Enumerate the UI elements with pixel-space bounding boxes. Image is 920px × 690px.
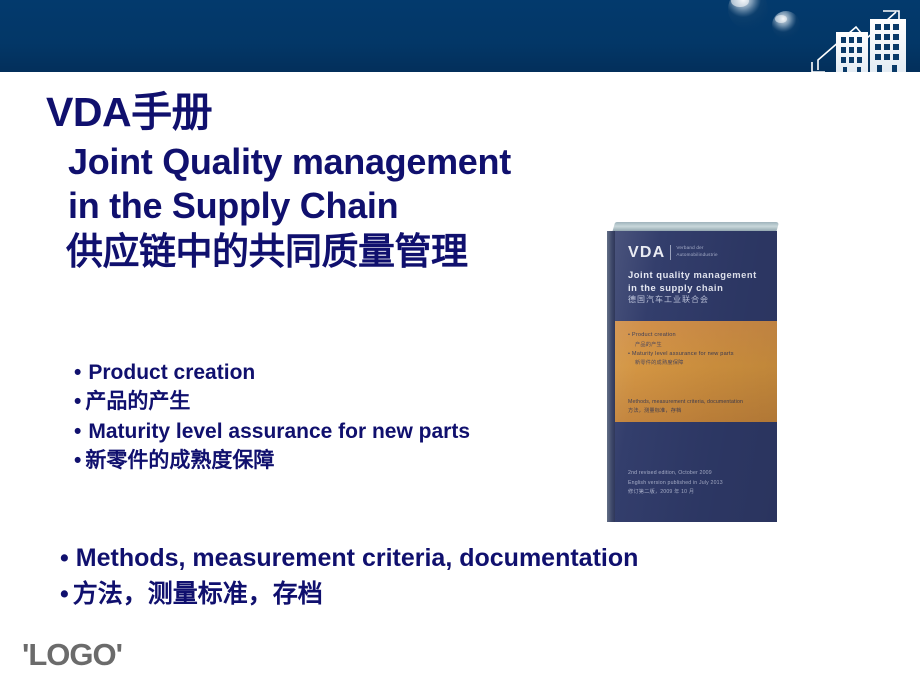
bullet-dot-icon: • bbox=[60, 541, 69, 577]
bubble-small-icon bbox=[772, 11, 800, 39]
slide: VDA手册 Joint Quality management in the Su… bbox=[0, 0, 920, 690]
page-title-en-line1: Joint Quality management bbox=[68, 144, 640, 180]
bullet-dot-icon: • bbox=[74, 446, 81, 475]
list-item-label: 方法，测量标准，存档 bbox=[73, 577, 323, 613]
book-vda-wordmark: VDA bbox=[628, 245, 665, 261]
header-decoration-graphic bbox=[690, 0, 920, 72]
bullet-list-upper: • Product creation • 产品的产生 • Maturity le… bbox=[74, 358, 614, 476]
list-item-label: 新零件的成熟度保障 bbox=[85, 446, 274, 475]
bullet-dot-icon: • bbox=[60, 577, 69, 613]
list-item: • 新零件的成熟度保障 bbox=[74, 446, 614, 475]
list-item-label: 产品的产生 bbox=[85, 387, 190, 416]
page-title-en-line2: in the Supply Chain bbox=[68, 188, 640, 224]
book-vda-divider bbox=[670, 245, 671, 260]
book-methods-line1: Methods, measurement criteria, documenta… bbox=[628, 398, 743, 407]
bullet-dot-icon: • bbox=[74, 387, 81, 416]
book-methods-text: Methods, measurement criteria, documenta… bbox=[628, 398, 743, 416]
book-front-face: VDA Verband der Automobilindustrie Joint… bbox=[615, 231, 777, 522]
page-title-cn: VDA手册 bbox=[46, 92, 640, 133]
book-bullet-2: • Maturity level assurance for new parts bbox=[628, 350, 734, 360]
book-bullet-list: • Product creation 产品的产生 • Maturity leve… bbox=[628, 331, 734, 368]
book-title-cn: 德国汽车工业联合会 bbox=[628, 295, 757, 306]
book-cover-image: VDA Verband der Automobilindustrie Joint… bbox=[607, 222, 777, 522]
bubble-large-icon bbox=[728, 0, 768, 29]
book-footer-text: 2nd revised edition, October 2009 Englis… bbox=[628, 469, 723, 498]
list-item: • 方法，测量标准，存档 bbox=[60, 577, 880, 613]
book-vda-subtitle-line1: Verband der bbox=[676, 245, 703, 250]
logo-placeholder: 'LOGO' bbox=[22, 637, 122, 673]
list-item-label: Methods, measurement criteria, documenta… bbox=[76, 541, 639, 577]
list-item-label: Maturity level assurance for new parts bbox=[88, 417, 470, 446]
book-methods-line2: 方法，测量标准，存档 bbox=[628, 407, 743, 416]
bullet-dot-icon: • bbox=[74, 417, 81, 446]
book-title-line2: in the supply chain bbox=[628, 282, 757, 295]
title-block: VDA手册 Joint Quality management in the Su… bbox=[0, 92, 640, 270]
list-item: • Maturity level assurance for new parts bbox=[74, 417, 614, 446]
book-vda-logo: VDA Verband der Automobilindustrie bbox=[628, 245, 718, 261]
book-footer-line2: English version published in July 2013 bbox=[628, 479, 723, 489]
book-footer-line3: 修订第二版，2009 年 10 月 bbox=[628, 488, 723, 498]
page-subtitle-cn: 供应链中的共同质量管理 bbox=[66, 233, 640, 270]
header-band bbox=[0, 0, 920, 72]
list-item: • Product creation bbox=[74, 358, 614, 387]
list-item: • Methods, measurement criteria, documen… bbox=[60, 541, 880, 577]
bullet-list-lower: • Methods, measurement criteria, documen… bbox=[60, 541, 880, 612]
book-bullet-0: • Product creation bbox=[628, 331, 734, 341]
buildings-icon bbox=[836, 19, 906, 72]
book-bullet-1: 产品的产生 bbox=[628, 341, 734, 350]
book-vda-subtitle-line2: Automobilindustrie bbox=[676, 252, 717, 257]
book-vda-subtitle: Verband der Automobilindustrie bbox=[676, 245, 717, 259]
bullet-dot-icon: • bbox=[74, 358, 81, 387]
list-item-label: Product creation bbox=[88, 358, 255, 387]
book-bullet-3: 新零件的成熟度保障 bbox=[628, 359, 734, 368]
list-item: • 产品的产生 bbox=[74, 387, 614, 416]
book-title: Joint quality management in the supply c… bbox=[628, 269, 757, 306]
book-footer-line1: 2nd revised edition, October 2009 bbox=[628, 469, 723, 479]
book-title-line1: Joint quality management bbox=[628, 269, 757, 282]
